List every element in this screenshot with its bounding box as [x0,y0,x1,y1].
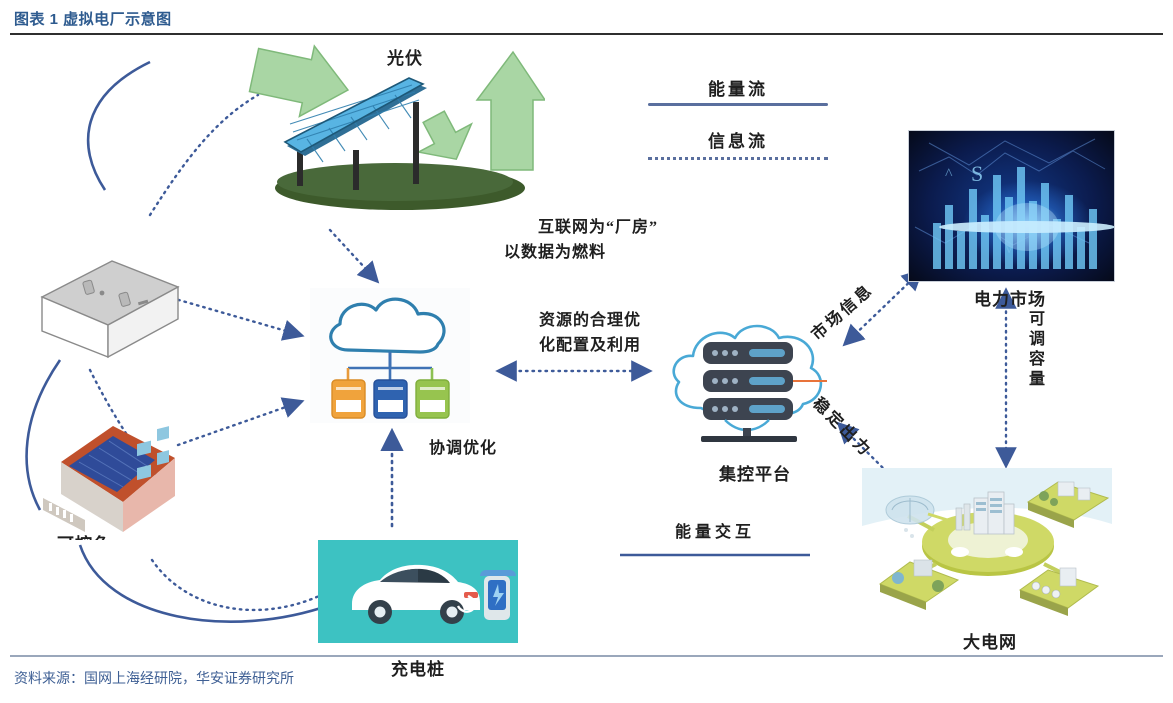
annotation-coordinate-optimize: 协调优化 [408,436,518,461]
node-market-caption: 电力市场 [945,285,1075,310]
annotation-resource-optimize-line1: 资源的合理优 [500,308,680,333]
legend-label-information-flow: 信息流 [648,127,828,152]
node-storage-illustration: 储能 [20,225,190,365]
node-charger-illustration [318,540,518,643]
node-market-image: S ^ v [908,130,1115,282]
source-divider [10,655,1163,657]
annotation-resource-optimize: 资源的合理优 化配置及利用 [500,308,680,358]
legend-swatch-dotted-line [648,157,828,160]
annotation-internet-factory-line2: 以数据为燃料 [498,240,698,265]
node-platform-caption: 集控平台 [690,460,820,485]
node-storage-caption: 储能 [50,225,120,228]
legend: 能量流 信息流 [648,75,828,173]
node-pv-illustration: 光伏 [245,40,545,230]
diagram-canvas: 光伏 储能 [0,40,1173,652]
legend-item-energy-flow: 能量流 [648,75,828,121]
title-divider [10,33,1163,35]
node-pv-caption: 光伏 [370,44,440,69]
annotation-energy-exchange: 能量交互 [655,520,775,545]
source-note: 资料来源：国网上海经研院，华安证券研究所 [14,668,294,688]
annotation-market-info: 市场信息 [806,328,882,353]
page-title: 图表 1 虚拟电厂示意图 [14,8,172,29]
legend-swatch-solid-line [648,103,828,106]
node-charger-caption: 充电桩 [358,655,478,680]
node-grid-illustration [862,468,1112,618]
node-load-caption-line1: 可控负 [39,530,129,540]
annotation-internet-factory: 互联网为“厂房” 以数据为燃料 [498,215,698,265]
node-cloud-illustration [310,288,470,423]
svg-text:v: v [1005,240,1013,257]
svg-text:^: ^ [945,166,953,183]
legend-item-information-flow: 信息流 [648,127,828,173]
annotation-adjustable-capacity: 可调容量 [1022,310,1046,390]
node-load-illustration: 可控负 荷 [25,410,185,540]
node-grid-caption: 大电网 [925,628,1055,653]
annotation-resource-optimize-line2: 化配置及利用 [500,333,680,358]
annotation-stable-output: 稳定出力 [824,392,900,417]
svg-text:S: S [971,161,983,186]
annotation-internet-factory-line1: 互联网为“厂房” [498,215,698,240]
legend-label-energy-flow: 能量流 [648,75,828,100]
